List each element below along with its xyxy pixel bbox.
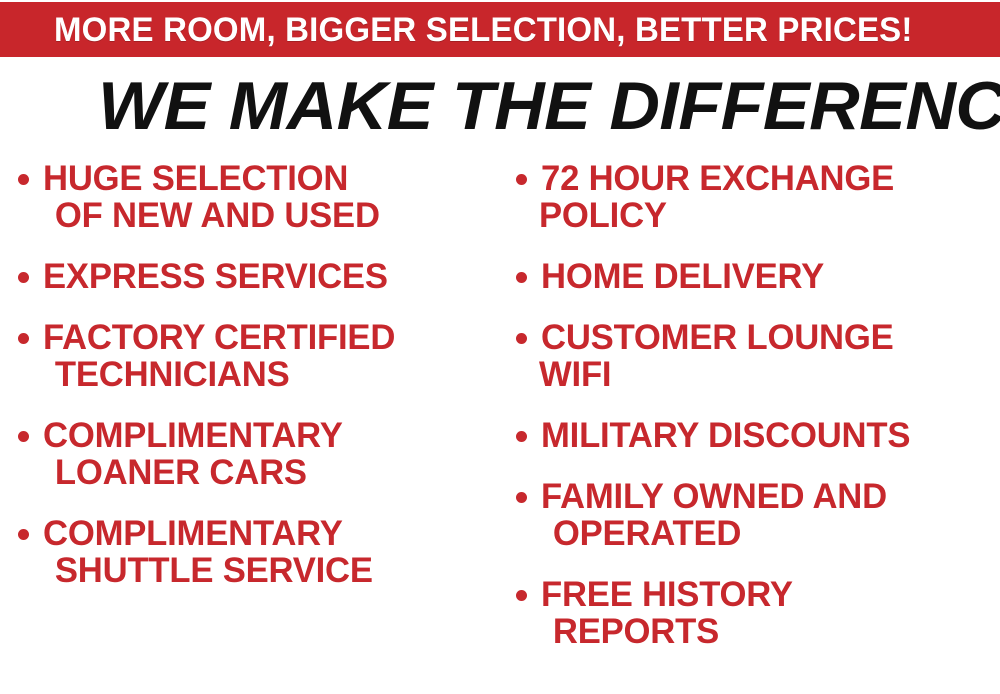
bullet-dot-icon: [516, 333, 527, 344]
benefit-list-item: CUSTOMER LOUNGEWIFI: [516, 319, 1000, 393]
benefit-list-item-label: HOME DELIVERY: [541, 258, 995, 295]
promotional-poster: MORE ROOM, BIGGER SELECTION, BETTER PRIC…: [0, 0, 1000, 694]
benefit-list-item: FACTORY CERTIFIEDTECHNICIANS: [18, 319, 500, 393]
bullet-dot-icon: [18, 174, 29, 185]
bullet-dot-icon: [18, 333, 29, 344]
benefit-line-primary: 72 HOUR EXCHANGE: [541, 159, 894, 198]
bullet-dot-icon: [18, 272, 29, 283]
benefit-line-primary: COMPLIMENTARY: [43, 514, 343, 553]
benefits-columns: HUGE SELECTIONOF NEW AND USEDEXPRESS SER…: [0, 160, 1000, 694]
bullet-dot-icon: [516, 431, 527, 442]
benefit-list-item: MILITARY DISCOUNTS: [516, 417, 1000, 454]
benefit-list-item-label: EXPRESS SERVICES: [43, 258, 495, 295]
benefit-line-secondary: REPORTS: [553, 613, 996, 650]
benefit-list-item: EXPRESS SERVICES: [18, 258, 500, 295]
benefit-list-item-label: FAMILY OWNED ANDOPERATED: [541, 478, 995, 552]
benefit-line-secondary: OF NEW AND USED: [55, 197, 496, 234]
benefit-list-item-label: COMPLIMENTARYLOANER CARS: [43, 417, 495, 491]
benefit-line-primary: FREE HISTORY: [541, 575, 793, 614]
benefit-list-item-label: CUSTOMER LOUNGEWIFI: [541, 319, 995, 393]
benefit-line-secondary: POLICY: [539, 197, 995, 234]
benefit-line-secondary: LOANER CARS: [55, 454, 496, 491]
bullet-dot-icon: [18, 529, 29, 540]
bullet-dot-icon: [516, 492, 527, 503]
benefit-list-item: FAMILY OWNED ANDOPERATED: [516, 478, 1000, 552]
benefit-list-item-label: COMPLIMENTARYSHUTTLE SERVICE: [43, 515, 495, 589]
bullet-dot-icon: [516, 174, 527, 185]
benefit-line-primary: COMPLIMENTARY: [43, 416, 343, 455]
benefits-column-right: 72 HOUR EXCHANGEPOLICYHOME DELIVERYCUSTO…: [516, 160, 1000, 674]
bullet-dot-icon: [516, 590, 527, 601]
benefit-line-primary: HOME DELIVERY: [541, 257, 824, 296]
bullet-dot-icon: [18, 431, 29, 442]
benefit-list-item-label: HUGE SELECTIONOF NEW AND USED: [43, 160, 495, 234]
benefits-column-left: HUGE SELECTIONOF NEW AND USEDEXPRESS SER…: [18, 160, 500, 613]
benefit-list-item: FREE HISTORYREPORTS: [516, 576, 1000, 650]
benefit-list-item: 72 HOUR EXCHANGEPOLICY: [516, 160, 1000, 234]
page-title: WE MAKE THE DIFFERENCE: [98, 72, 943, 140]
benefit-line-primary: FACTORY CERTIFIED: [43, 318, 395, 357]
benefit-list-item-label: 72 HOUR EXCHANGEPOLICY: [541, 160, 995, 234]
benefit-line-secondary: WIFI: [539, 356, 995, 393]
bullet-dot-icon: [516, 272, 527, 283]
benefit-line-primary: CUSTOMER LOUNGE: [541, 318, 894, 357]
benefit-line-primary: HUGE SELECTION: [43, 159, 348, 198]
benefit-line-secondary: SHUTTLE SERVICE: [55, 552, 496, 589]
benefit-list-item: HOME DELIVERY: [516, 258, 1000, 295]
banner-headline-text: MORE ROOM, BIGGER SELECTION, BETTER PRIC…: [54, 13, 913, 47]
top-banner: MORE ROOM, BIGGER SELECTION, BETTER PRIC…: [0, 2, 1000, 57]
benefit-line-secondary: OPERATED: [553, 515, 996, 552]
benefit-line-primary: MILITARY DISCOUNTS: [541, 416, 910, 455]
benefit-list-item: COMPLIMENTARYSHUTTLE SERVICE: [18, 515, 500, 589]
benefit-list-item-label: MILITARY DISCOUNTS: [541, 417, 995, 454]
benefit-list-item-label: FACTORY CERTIFIEDTECHNICIANS: [43, 319, 495, 393]
benefit-list-item: HUGE SELECTIONOF NEW AND USED: [18, 160, 500, 234]
benefit-list-item-label: FREE HISTORYREPORTS: [541, 576, 995, 650]
benefit-list-item: COMPLIMENTARYLOANER CARS: [18, 417, 500, 491]
benefit-line-primary: EXPRESS SERVICES: [43, 257, 388, 296]
benefit-line-primary: FAMILY OWNED AND: [541, 477, 887, 516]
benefit-line-secondary: TECHNICIANS: [55, 356, 496, 393]
